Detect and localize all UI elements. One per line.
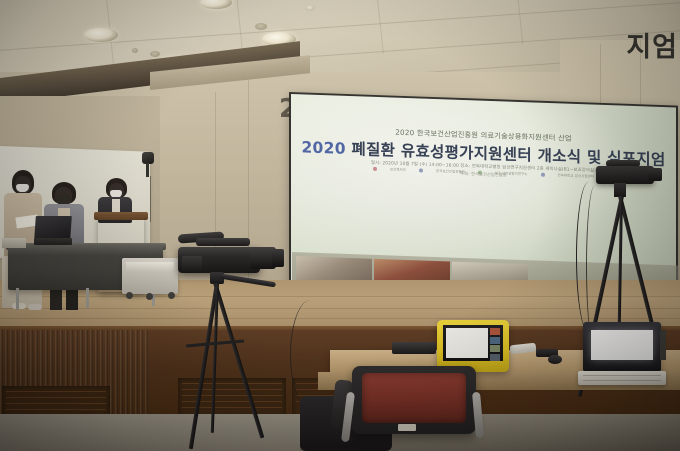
cart-caster (168, 292, 175, 299)
stage-document (2, 238, 26, 248)
cart-caster (126, 292, 133, 299)
floor-cable (290, 300, 331, 410)
call-thumb (490, 345, 500, 352)
call-thumb (490, 337, 500, 344)
wall-camera-cable (150, 176, 151, 222)
keyboard[interactable] (578, 371, 666, 385)
camera-viewfinder (182, 256, 202, 273)
mouse[interactable] (548, 355, 562, 364)
video-camera-right[interactable] (596, 166, 654, 184)
chair-mesh-back (362, 373, 466, 423)
laptop-screen (34, 216, 72, 240)
camera-top-handle (196, 238, 250, 246)
person-shoe (12, 303, 26, 309)
ceiling-downlight (305, 5, 315, 11)
camera2-lens-icon (648, 168, 662, 181)
conference-hall-photo: 지엄 2 2020 한국보건산업진흥원 의료기술상용화지원센터 산업 2020 … (0, 0, 680, 451)
chair-label-tag (398, 424, 416, 431)
av-deck[interactable] (392, 342, 436, 354)
camera-lens-hood (272, 249, 284, 267)
cart-shelf (126, 262, 174, 272)
monitor-stand (660, 330, 666, 360)
laptop-base (34, 238, 72, 245)
person-shoe (28, 304, 42, 310)
wall-camera-mount (146, 163, 149, 177)
ceiling-vent (150, 51, 160, 57)
wall-banner-text: 지엄 (626, 34, 678, 61)
video-call-document-pane (446, 328, 488, 358)
call-thumb (490, 328, 500, 335)
floor-plank-line (0, 308, 680, 309)
floor-plank-line (0, 318, 680, 319)
video-call-thumbnails (490, 328, 500, 362)
table-leg (86, 288, 89, 308)
ceiling-vent (255, 23, 267, 30)
person-leg (66, 290, 78, 310)
ceiling-vent (132, 48, 138, 53)
dark-monitor-screen[interactable] (591, 330, 653, 360)
person-leg (50, 290, 62, 310)
table-leg (16, 288, 19, 310)
ceiling-downlight (84, 28, 118, 42)
cart-caster (146, 293, 153, 300)
call-thumb (490, 354, 500, 361)
slide-title-year: 2020 (301, 138, 345, 158)
